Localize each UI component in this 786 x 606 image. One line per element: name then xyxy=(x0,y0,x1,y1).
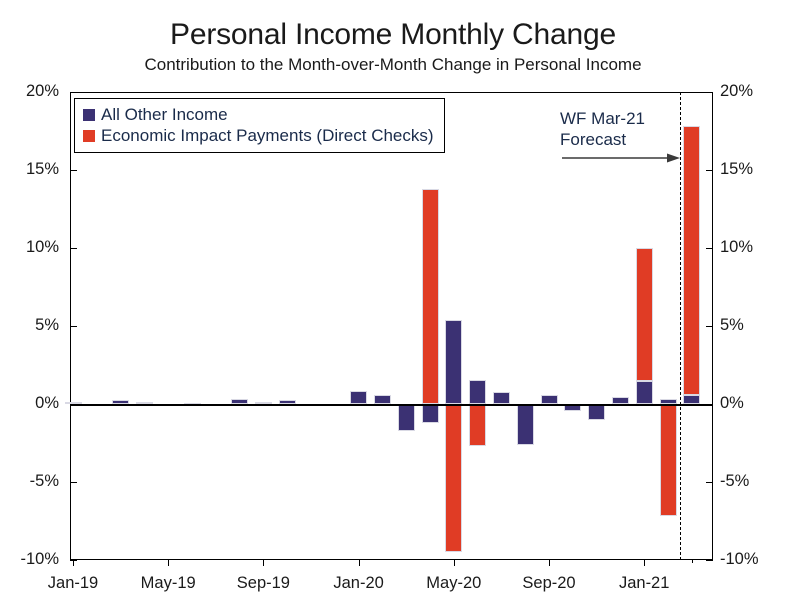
x-axis-label: May-19 xyxy=(141,574,196,593)
y-axis-label-left: 0% xyxy=(0,394,59,413)
bar-jan-21-red xyxy=(636,248,653,381)
legend-label: All Other Income xyxy=(101,106,228,123)
bar-jan-20-navy xyxy=(350,391,367,404)
y-tick-right xyxy=(706,560,713,561)
y-axis-label-left: 10% xyxy=(0,238,59,257)
y-tick-left xyxy=(70,92,77,93)
bar-mar-21-navy xyxy=(683,395,700,404)
y-tick-right xyxy=(706,482,713,483)
x-axis-label: Jan-19 xyxy=(48,574,98,593)
x-axis-label: Sep-19 xyxy=(237,574,290,593)
bar-aug-20-navy xyxy=(517,404,534,445)
x-tick xyxy=(454,559,455,566)
legend-swatch-icon-navy xyxy=(83,109,95,121)
y-axis-label-left: 15% xyxy=(0,160,59,179)
bar-jan-21-navy xyxy=(636,381,653,404)
x-tick-minor xyxy=(692,559,693,563)
y-tick-right xyxy=(706,326,713,327)
zero-baseline xyxy=(70,404,713,406)
y-axis-label-left: -10% xyxy=(0,550,59,569)
x-axis-label: Jan-20 xyxy=(333,574,383,593)
y-tick-left xyxy=(70,482,77,483)
bar-mar-21-red xyxy=(683,126,700,394)
bar-may-20-red xyxy=(445,404,462,552)
forecast-divider xyxy=(680,92,681,560)
forecast-annotation-line2: Forecast xyxy=(560,129,645,150)
bar-jun-20-red xyxy=(469,404,486,446)
chart-legend: All Other Income Economic Impact Payment… xyxy=(74,98,445,153)
legend-item-economic-impact-payments: Economic Impact Payments (Direct Checks) xyxy=(83,125,434,146)
bar-jun-20-navy xyxy=(469,380,486,404)
y-axis-label-right: 20% xyxy=(720,82,753,101)
legend-label: Economic Impact Payments (Direct Checks) xyxy=(101,127,434,144)
y-tick-right xyxy=(706,248,713,249)
chart-title: Personal Income Monthly Change xyxy=(0,18,786,52)
y-tick-right xyxy=(706,92,713,93)
chart-subtitle: Contribution to the Month-over-Month Cha… xyxy=(0,55,786,75)
legend-swatch-icon-red xyxy=(83,130,95,142)
chart-figure: Personal Income Monthly Change Contribut… xyxy=(0,0,786,606)
x-tick xyxy=(644,559,645,566)
bar-feb-20-navy xyxy=(374,395,391,404)
bar-sep-20-navy xyxy=(541,395,558,404)
forecast-annotation-line1: WF Mar-21 xyxy=(560,108,645,129)
bar-feb-21-red xyxy=(660,404,677,516)
legend-item-all-other-income: All Other Income xyxy=(83,104,434,125)
bar-jul-20-navy xyxy=(493,392,510,404)
bar-nov-20-navy xyxy=(588,404,605,420)
bar-mar-20-navy xyxy=(398,404,415,431)
x-axis-label: May-20 xyxy=(426,574,481,593)
axis-bottom xyxy=(70,559,713,560)
y-axis-label-right: 5% xyxy=(720,316,744,335)
y-tick-left xyxy=(70,248,77,249)
y-axis-label-right: -10% xyxy=(720,550,759,569)
y-tick-left xyxy=(70,326,77,327)
forecast-annotation: WF Mar-21 Forecast xyxy=(560,108,645,150)
y-axis-label-right: 10% xyxy=(720,238,753,257)
x-axis-label: Sep-20 xyxy=(522,574,575,593)
y-tick-right xyxy=(706,170,713,171)
y-axis-label-left: 5% xyxy=(0,316,59,335)
bar-may-20-navy xyxy=(445,320,462,404)
y-axis-label-right: -5% xyxy=(720,472,749,491)
y-axis-label-right: 0% xyxy=(720,394,744,413)
bar-apr-20-red xyxy=(422,189,439,404)
x-tick xyxy=(73,559,74,566)
x-tick xyxy=(263,559,264,566)
right-arrow-icon xyxy=(562,152,680,164)
bar-apr-20-navy xyxy=(422,404,439,423)
y-axis-label-right: 15% xyxy=(720,160,753,179)
x-tick xyxy=(168,559,169,566)
y-axis-label-left: -5% xyxy=(0,472,59,491)
axis-top xyxy=(70,92,713,93)
y-axis-label-left: 20% xyxy=(0,82,59,101)
x-tick xyxy=(549,559,550,566)
bar-dec-20-navy xyxy=(612,397,629,404)
x-tick xyxy=(359,559,360,566)
x-axis-label: Jan-21 xyxy=(619,574,669,593)
y-tick-left xyxy=(70,170,77,171)
